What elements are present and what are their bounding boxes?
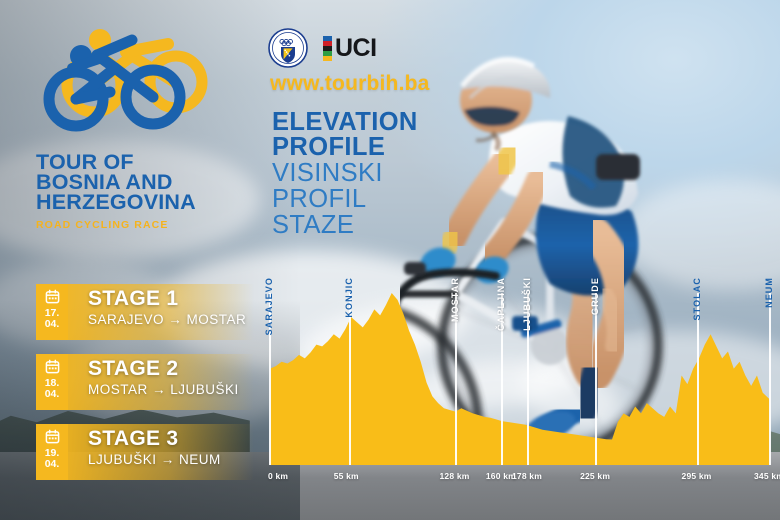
city-marker-line — [595, 293, 597, 465]
stage-day: 18. — [45, 378, 60, 389]
website-url[interactable]: www.tourbih.ba — [270, 72, 430, 96]
title-loc-line-3: STAZE — [272, 212, 418, 238]
stage-day: 17. — [45, 308, 60, 319]
logo-title-line-1: TOUR OF — [36, 152, 258, 172]
km-tick-label: 0 km — [268, 471, 288, 481]
calendar-icon — [45, 429, 60, 444]
km-tick-label: 178 km — [512, 471, 542, 481]
logo-subtitle: ROAD CYCLING RACE — [36, 219, 258, 231]
header-emblems: UCI — [268, 28, 377, 68]
stage-month: 04. — [45, 459, 60, 470]
city-marker-label: NEUM — [764, 277, 774, 308]
city-marker-label: STOLAC — [692, 277, 702, 320]
stage-month: 04. — [45, 389, 60, 400]
title-loc-line-1: VISINSKI — [272, 160, 418, 186]
stage-list: 17. 04. STAGE 1 SARAJEVO → MOSTAR 18. 04… — [36, 284, 286, 494]
city-marker-label: MOSTAR — [450, 277, 460, 322]
city-marker-label: ČAPLJINA — [496, 277, 506, 331]
km-tick-label: 295 km — [682, 471, 712, 481]
city-marker-line — [349, 293, 351, 465]
logo-title-line-2: BOSNIA AND — [36, 172, 258, 192]
title-loc-line-2: PROFIL — [272, 186, 418, 212]
stage-item-3[interactable]: 19. 04. STAGE 3 LJUBUŠKI → NEUM — [36, 424, 286, 480]
cyclist-logo-icon — [36, 22, 211, 137]
stage-item-2[interactable]: 18. 04. STAGE 2 MOSTAR → LJUBUŠKI — [36, 354, 286, 410]
title-en-line-1: ELEVATION — [272, 110, 418, 135]
city-marker-label: GRUDE — [590, 277, 600, 315]
uci-rainbow-bars — [323, 36, 332, 61]
stage-date-badge: 18. 04. — [36, 354, 68, 410]
km-tick-label: 225 km — [580, 471, 610, 481]
uci-wordmark: UCI — [335, 36, 377, 61]
calendar-icon — [45, 289, 60, 304]
stage-date-badge: 17. 04. — [36, 284, 68, 340]
event-logo: TOUR OF BOSNIA AND HERZEGOVINA ROAD CYCL… — [28, 22, 258, 231]
km-tick-label: 128 km — [440, 471, 470, 481]
page-title: ELEVATION PROFILE VISINSKI PROFIL STAZE — [272, 110, 418, 238]
city-marker-line — [769, 293, 771, 465]
city-marker-label: KONJIC — [344, 277, 354, 318]
logo-title: TOUR OF BOSNIA AND HERZEGOVINA — [36, 152, 258, 212]
bih-cycling-federation-emblem — [268, 28, 308, 68]
stage-month: 04. — [45, 319, 60, 330]
km-tick-label: 55 km — [334, 471, 359, 481]
elevation-chart: SARAJEVOKONJICMOSTARČAPLJINALJUBUŠKIGRUD… — [270, 275, 770, 475]
calendar-icon — [45, 359, 60, 374]
city-marker-label: LJUBUŠKI — [522, 277, 532, 331]
km-tick-label: 345 km — [754, 471, 780, 481]
title-en-line-2: PROFILE — [272, 135, 418, 160]
stage-date-badge: 19. 04. — [36, 424, 68, 480]
uci-logo: UCI — [323, 36, 377, 61]
stage-item-1[interactable]: 17. 04. STAGE 1 SARAJEVO → MOSTAR — [36, 284, 286, 340]
city-marker-label: SARAJEVO — [264, 277, 274, 335]
logo-title-line-3: HERZEGOVINA — [36, 192, 258, 212]
stage-day: 19. — [45, 448, 60, 459]
